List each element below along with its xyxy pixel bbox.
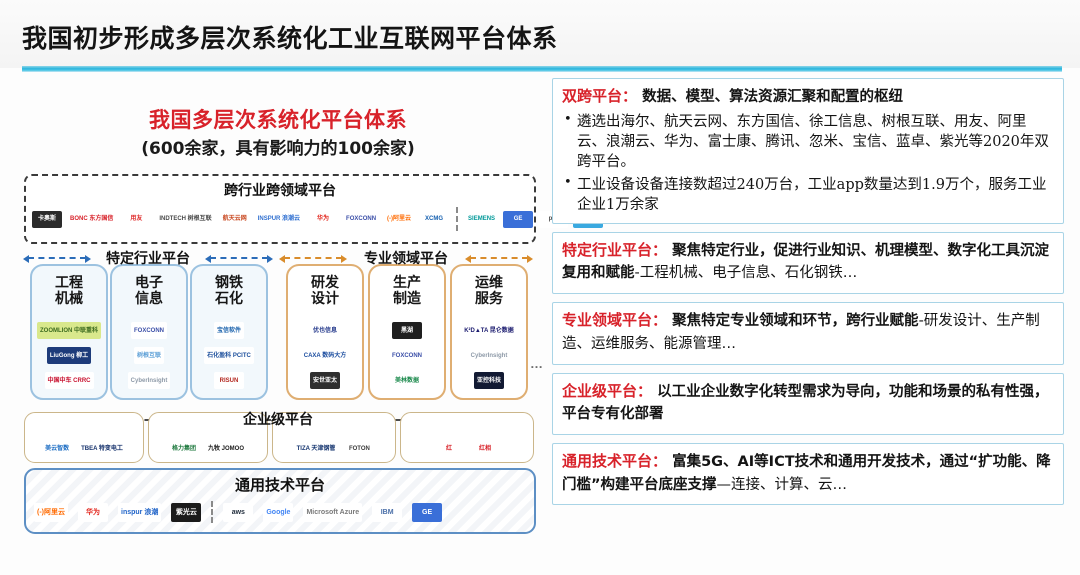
description-line: 特定行业平台： 聚焦特定行业，促进行业知识、机理模型、数字化工具沉淀复用和赋能-… [562, 240, 1054, 285]
logo-: 黑湖 [392, 322, 422, 339]
platform-card[interactable]: 生产制造黑湖FOXCONN美林数据 [368, 264, 446, 400]
logo-cyberinsight: CyberInsight [128, 372, 171, 389]
logo-: 红 [434, 440, 464, 457]
universal-tech-domestic-logos: (-)阿里云华为inspur 浪潮紫光云 [34, 503, 201, 522]
logo-xcmg: XCMG [419, 211, 449, 228]
description-box: 专业领域平台： 聚焦特定专业领域和环节，跨行业赋能-研发设计、生产制造、运维服务… [552, 302, 1064, 364]
platform-card-title: 电子信息 [112, 276, 186, 307]
logo-zoomlion: ZOOMLION 中联重科 [37, 322, 101, 339]
logo-microsoft-azure: Microsoft Azure [303, 503, 362, 522]
description-bold-text: 聚焦特定专业领域和环节，跨行业赋能 [667, 313, 919, 329]
platform-card-logos: 优也信息CAXA 数码大方安世亚太 [292, 318, 358, 393]
tier2-row: 特定行业平台 工程机械ZOOMLION 中联重科LiuGong 柳工中国中车 C… [24, 250, 532, 398]
logo-divider [456, 207, 458, 231]
specific-industry-group: 特定行业平台 工程机械ZOOMLION 中联重科LiuGong 柳工中国中车 C… [24, 250, 272, 398]
enterprise-level-row: 企业级平台 美云智数TBEA 特变电工格力集团九牧 JOMOOTIZA 天津钢管… [24, 408, 532, 460]
logo-divider [211, 501, 213, 523]
description-heading: 双跨平台： [562, 87, 637, 105]
platform-card-logos: 黑湖FOXCONN美林数据 [374, 318, 440, 393]
description-box: 双跨平台： 数据、模型、算法资源汇聚和配置的枢纽遴选出海尔、航天云网、东方国信、… [552, 78, 1064, 224]
description-line: 专业领域平台： 聚焦特定专业领域和环节，跨行业赋能-研发设计、生产制造、运维服务… [562, 310, 1054, 355]
logo-detroit-cn: 树根互联 [134, 347, 164, 364]
logo-cyberinsight: CyberInsight [468, 347, 511, 364]
description-normal-text: —连接、计算、云… [717, 477, 848, 493]
universal-tech-foreign-logos: awsGoogleMicrosoft AzureIBMGE [223, 503, 442, 522]
description-line: 企业级平台： 以工业企业数字化转型需求为导向，功能和场景的私有性强，平台专有化部… [562, 381, 1054, 426]
logo-risun: RISUN [214, 372, 244, 389]
description-normal-text: -工程机械、电子信息、石化钢铁… [635, 265, 858, 281]
platform-card-logos: 宝信软件石化盈科 PCITCRISUN [196, 318, 262, 393]
description-heading: 特定行业平台： [562, 241, 667, 259]
description-bullet-list: 遴选出海尔、航天云网、东方国信、徐工信息、树根互联、用友、阿里云、浪潮云、华为、… [562, 112, 1054, 215]
logo-: (-)阿里云 [384, 211, 414, 228]
platform-card-title: 工程机械 [32, 276, 106, 307]
description-heading: 企业级平台： [562, 382, 652, 400]
logo-ge: GE [503, 211, 533, 228]
logo-foton: FOTON [344, 440, 374, 457]
platform-card-logos: ZOOMLION 中联重科LiuGong 柳工中国中车 CRRC [36, 318, 102, 393]
logo-foxconn: FOXCONN [131, 322, 167, 339]
platform-card[interactable]: 钢铁石化宝信软件石化盈科 PCITCRISUN [190, 264, 268, 400]
description-box: 特定行业平台： 聚焦特定行业，促进行业知识、机理模型、数字化工具沉淀复用和赋能-… [552, 232, 1064, 294]
platform-card[interactable]: 电子信息FOXCONN树根互联CyberInsight [110, 264, 188, 400]
cross-industry-domestic-logos: 卡奥斯BONC 东方国信用友INDTECH 树根互联航天云网INSPUR 浪潮云… [32, 211, 449, 228]
platform-card-title: 研发设计 [288, 276, 362, 307]
universal-tech-platform-box: 通用技术平台 (-)阿里云华为inspur 浪潮紫光云 awsGoogleMic… [24, 468, 536, 534]
logo-: 格力集团 [169, 440, 199, 457]
logo-bonc: BONC 东方国信 [67, 211, 116, 228]
description-heading: 通用技术平台： [562, 452, 667, 470]
platform-card-title: 运维服务 [452, 276, 526, 307]
enterprise-level-label: 企业级平台 [24, 409, 532, 429]
logo-: 卡奥斯 [32, 211, 62, 228]
cross-industry-logo-row: 卡奥斯BONC 东方国信用友INDTECH 树根互联航天云网INSPUR 浪潮云… [32, 202, 528, 236]
platform-card-title: 钢铁石化 [192, 276, 266, 307]
logo-indtech: INDTECH 树根互联 [156, 211, 214, 228]
logo-: 航天云网 [220, 211, 250, 228]
slide-header: 我国初步形成多层次系统化工业互联网平台体系 [0, 0, 1080, 68]
platform-card-logos: FOXCONN树根互联CyberInsight [116, 318, 182, 393]
logo-inspur: INSPUR 浪潮云 [255, 211, 303, 228]
logo-: 美云智数 [42, 440, 72, 457]
logo-tiza: TIZA 天津钢管 [294, 440, 339, 457]
logo-crrc: 中国中车 CRRC [45, 372, 94, 389]
logo-huawei: 华为 [308, 211, 338, 228]
description-bullet: 遴选出海尔、航天云网、东方国信、徐工信息、树根互联、用友、阿里云、浪潮云、华为、… [562, 112, 1054, 172]
description-lead: 数据、模型、算法资源汇聚和配置的枢纽 [637, 89, 903, 105]
slide-page: 我国初步形成多层次系统化工业互联网平台体系 我国多层次系统化平台体系 (600余… [0, 0, 1080, 575]
platform-card[interactable]: 研发设计优也信息CAXA 数码大方安世亚太 [286, 264, 364, 400]
header-divider [22, 66, 1062, 72]
specific-industry-label: 特定行业平台 [24, 248, 272, 268]
description-heading: 专业领域平台： [562, 311, 667, 329]
logo-tbea: TBEA 特变电工 [78, 440, 126, 457]
description-bullet: 工业设备设备连接数超过240万台，工业app数量达到1.9万个，服务工业企业1万… [562, 175, 1054, 215]
logo-: 用友 [121, 211, 151, 228]
platform-card-logos: K²D▲TA 昆仑数据CyberInsight亚控科技 [456, 318, 522, 393]
universal-tech-title: 通用技术平台 [26, 474, 534, 495]
left-panel-subtitle: (600余家，具有影响力的100余家) [18, 134, 538, 159]
platform-card-title: 生产制造 [370, 276, 444, 307]
logo-: 美林数据 [392, 372, 422, 389]
professional-domain-label: 专业领域平台 [280, 248, 532, 268]
logo-liugong: LiuGong 柳工 [47, 347, 91, 364]
left-panel-title: 我国多层次系统化平台体系 [18, 104, 538, 134]
logo-: (-)阿里云 [34, 503, 68, 522]
page-title: 我国初步形成多层次系统化工业互联网平台体系 [22, 19, 558, 55]
logo-ibm: IBM [372, 503, 402, 522]
professional-domain-group: 专业领域平台 研发设计优也信息CAXA 数码大方安世亚太生产制造黑湖FOXCON… [280, 250, 532, 398]
cross-industry-title: 跨行业跨领域平台 [26, 180, 534, 200]
logo-ge: GE [412, 503, 442, 522]
logo-: 安世亚太 [310, 372, 340, 389]
logo-caxa: CAXA 数码大方 [301, 347, 349, 364]
logo-siemens: SIEMENS [465, 211, 498, 228]
logo-aws: aws [223, 503, 253, 522]
description-line: 通用技术平台： 富集5G、AI等ICT技术和通用开发技术，通过“扩功能、降门槛”… [562, 451, 1054, 496]
platform-card[interactable]: 运维服务K²D▲TA 昆仑数据CyberInsight亚控科技 [450, 264, 528, 400]
logo-foxconn: FOXCONN [389, 347, 425, 364]
logo-baosight: 宝信软件 [214, 322, 244, 339]
logo-foxconn: FOXCONN [343, 211, 379, 228]
logo-huawei: 华为 [78, 503, 108, 522]
logo-: 优也信息 [310, 322, 340, 339]
universal-tech-logo-row: (-)阿里云华为inspur 浪潮紫光云 awsGoogleMicrosoft … [34, 498, 526, 526]
description-line: 双跨平台： 数据、模型、算法资源汇聚和配置的枢纽 [562, 86, 1054, 109]
logo-: 紫光云 [171, 503, 201, 522]
right-description-panel: 双跨平台： 数据、模型、算法资源汇聚和配置的枢纽遴选出海尔、航天云网、东方国信、… [552, 78, 1064, 513]
logo-pcitc: 石化盈科 PCITC [204, 347, 254, 364]
logo-: 亚控科技 [474, 372, 504, 389]
logo-jomoo: 九牧 JOMOO [205, 440, 247, 457]
logo-k2data: K²D▲TA 昆仑数据 [461, 322, 517, 339]
professional-ellipsis: … [530, 356, 544, 371]
cross-industry-platform-box: 跨行业跨领域平台 卡奥斯BONC 东方国信用友INDTECH 树根互联航天云网I… [24, 174, 536, 244]
description-box: 通用技术平台： 富集5G、AI等ICT技术和通用开发技术，通过“扩功能、降门槛”… [552, 443, 1064, 505]
description-box: 企业级平台： 以工业企业数字化转型需求为导向，功能和场景的私有性强，平台专有化部… [552, 373, 1064, 435]
logo-inspur: inspur 浪潮 [118, 503, 161, 522]
left-diagram-panel: 我国多层次系统化平台体系 (600余家，具有影响力的100余家) 跨行业跨领域平… [18, 78, 538, 568]
platform-card[interactable]: 工程机械ZOOMLION 中联重科LiuGong 柳工中国中车 CRRC [30, 264, 108, 400]
logo-google: Google [263, 503, 293, 522]
logo-: 红相 [470, 440, 500, 457]
